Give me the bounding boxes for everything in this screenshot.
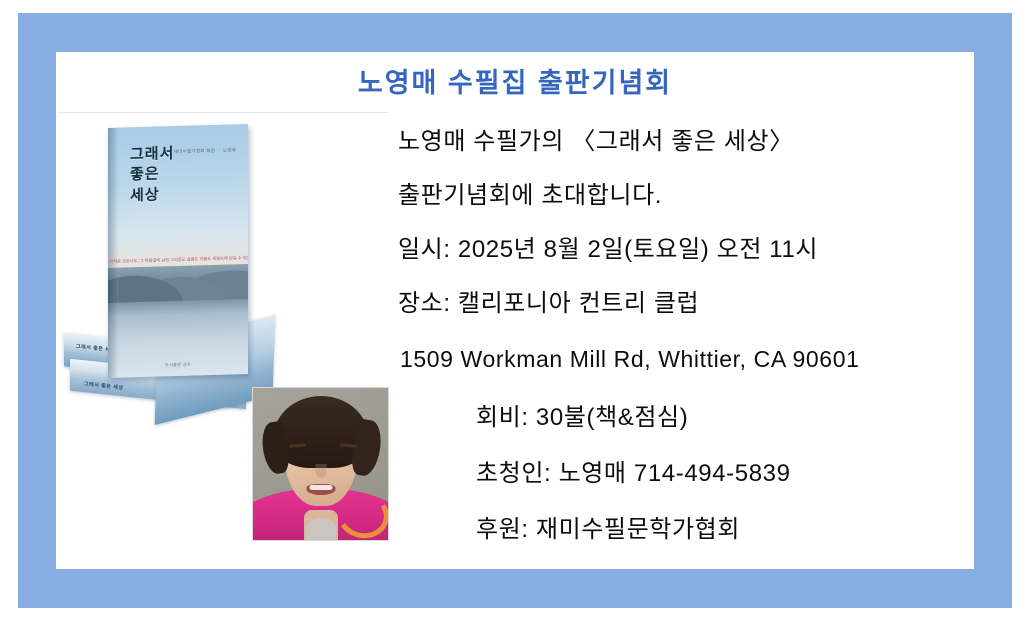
invitation-sponsor: 후원: 재미수필문학가협회	[476, 518, 740, 542]
page-title: 노영매 수필집 출판기념회	[56, 61, 974, 100]
cover-author: 재미수필가협회 회원 ㆍ 노영매	[174, 146, 236, 156]
invitation-line-2: 출판기념회에 초대합니다.	[398, 184, 662, 208]
portrait-teeth	[309, 485, 332, 490]
portrait-eye-left	[291, 452, 305, 457]
author-portrait-photo	[253, 388, 388, 540]
cover-title-line-2: 좋은	[130, 164, 174, 185]
cover-spine	[108, 128, 119, 378]
stacked-book-2-spine: 그래서 좋은 세상	[84, 380, 123, 391]
cover-title-line-3: 세상	[130, 185, 174, 206]
invitation-address: 1509 Workman Mill Rd, Whittier, CA 90601	[400, 348, 859, 371]
invitation-date: 일시: 2025년 8월 2일(토요일) 오전 11시	[398, 238, 818, 262]
portrait-collar	[306, 518, 336, 540]
portrait-eye-right	[341, 452, 355, 457]
cover-title: 그래서 좋은 세상	[130, 144, 174, 206]
cover-title-line-1: 그래서	[130, 144, 174, 165]
invitation-host-contact: 초청인: 노영매 714-494-5839	[476, 462, 791, 486]
invitation-venue: 장소: 캘리포니아 컨트리 클럽	[398, 292, 699, 316]
portrait-nose	[315, 464, 326, 478]
divider-rule	[58, 112, 388, 113]
invitation-poster: 노영매 수필집 출판기념회 그래서 좋은 세상 선우 그래서 좋은 세상 선우 …	[0, 0, 1026, 623]
standing-book-cover: 그래서 좋은 세상 재미수필가협회 회원 ㆍ 노영매 느닷없이 닥쳐온 코로나도…	[108, 124, 248, 378]
invitation-line-1: 노영매 수필가의 〈그래서 좋은 세상〉	[398, 130, 794, 154]
invitation-fee: 회비: 30불(책&점심)	[476, 406, 688, 430]
cover-publisher: 도서출판 선우	[165, 362, 191, 369]
